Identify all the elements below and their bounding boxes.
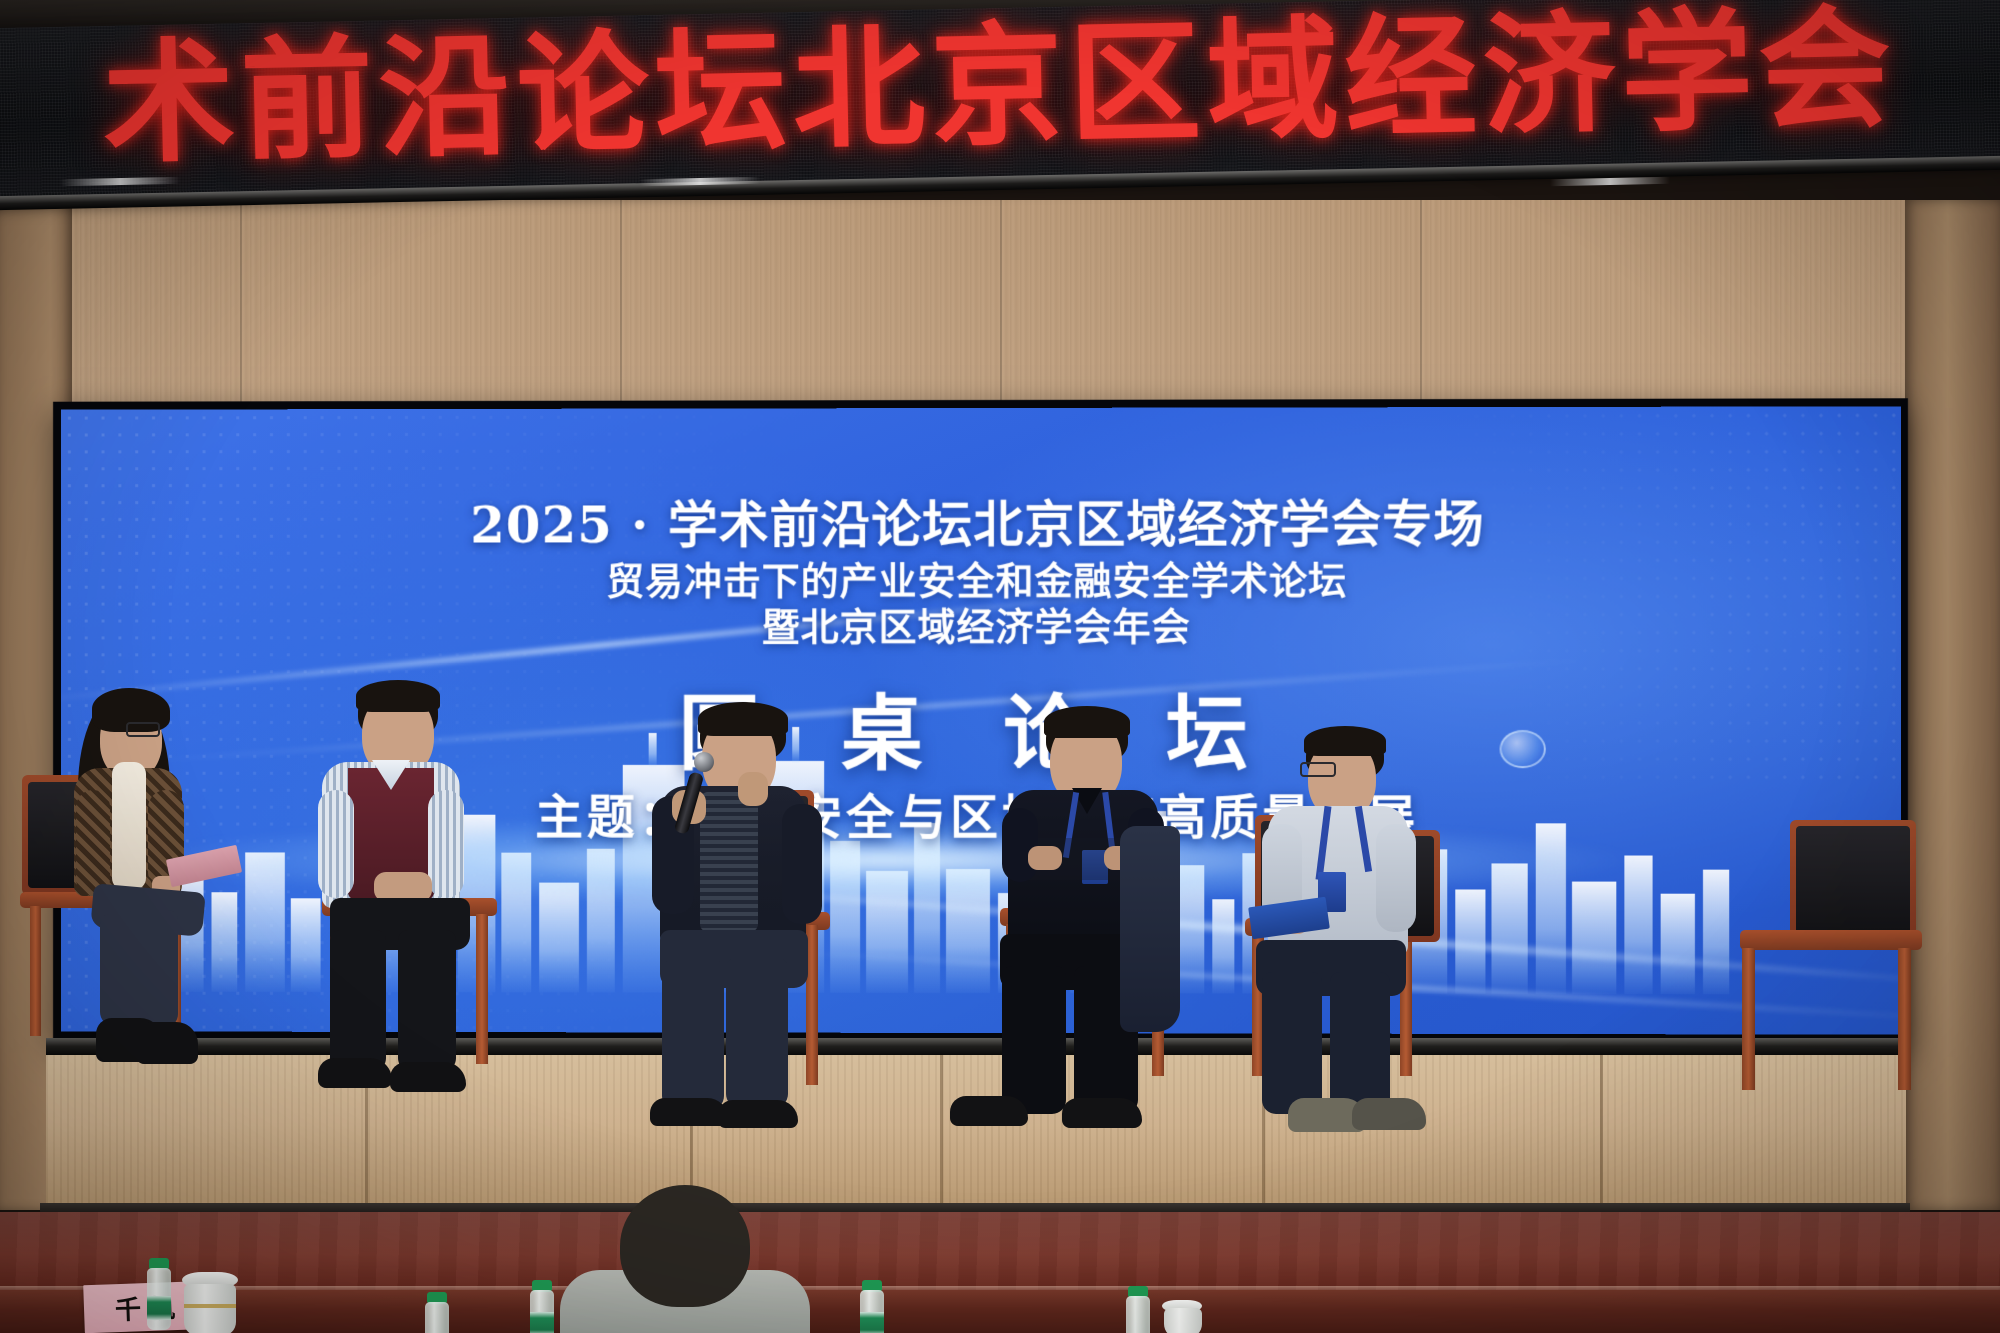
- chair-leg: [1898, 948, 1911, 1090]
- shin: [662, 960, 724, 1110]
- tea-cup: [184, 1284, 236, 1333]
- cabinet-seam: [940, 1055, 943, 1205]
- chair-leg: [476, 914, 488, 1064]
- shoe-2: [718, 1100, 798, 1128]
- water-bottle: [425, 1302, 449, 1333]
- bottle-label: [147, 1296, 171, 1320]
- conference-photo-scene: 术前沿论坛北京区域经济学会: [0, 0, 2000, 1333]
- teacup-gold-band: [184, 1304, 236, 1308]
- arm-left: [1002, 808, 1038, 882]
- hair-top: [698, 702, 788, 736]
- shoe-2: [1352, 1098, 1426, 1130]
- shoe-2: [1062, 1098, 1142, 1128]
- chair-leg: [1742, 948, 1755, 1090]
- microphone-head: [694, 752, 714, 772]
- tea-cup: [1164, 1308, 1202, 1333]
- arm-left: [76, 790, 110, 896]
- shoe: [650, 1098, 728, 1126]
- screen-subtitle-2: 暨北京区域经济学会年会: [61, 603, 1901, 650]
- shoe-2: [390, 1062, 466, 1092]
- shin: [1002, 966, 1066, 1114]
- foreground-table: [0, 1290, 2000, 1333]
- arm-right: [782, 804, 822, 924]
- chair-seat: [1740, 930, 1922, 950]
- bottle-label: [530, 1312, 554, 1333]
- hand-gesture: [738, 772, 768, 806]
- trim-glint: [1550, 177, 1670, 186]
- bottle-label: [860, 1312, 884, 1333]
- water-bottle: [1126, 1296, 1150, 1333]
- turtleneck: [112, 762, 146, 890]
- shin-2: [726, 958, 788, 1108]
- boot-2: [136, 1022, 198, 1064]
- screen-title: 2025 · 学术前沿论坛北京区域经济学会专场: [61, 495, 1901, 555]
- shoe: [318, 1058, 392, 1088]
- patterned-sweater: [700, 792, 758, 932]
- cabinet-top-trim: [46, 1038, 1906, 1056]
- screen-subtitle-1: 贸易冲击下的产业安全和金融安全学术论坛: [61, 557, 1901, 604]
- audience-member-head: [620, 1185, 750, 1307]
- hair-top: [1044, 706, 1130, 738]
- led-banner-text: 术前沿论坛北京区域经济学会: [0, 0, 2000, 183]
- cabinet-seam: [1600, 1055, 1603, 1205]
- shin-2: [398, 930, 456, 1072]
- arm-right: [1376, 824, 1416, 932]
- shin: [330, 930, 386, 1072]
- arm-left: [318, 790, 354, 898]
- glasses-icon: [1300, 762, 1336, 777]
- glasses-icon: [126, 722, 160, 737]
- hair-top: [1304, 726, 1386, 756]
- shin-2: [1330, 972, 1390, 1114]
- arm-right: [428, 790, 464, 898]
- hair-top: [356, 680, 440, 712]
- chair-leg: [30, 906, 41, 1036]
- shin: [1262, 972, 1322, 1114]
- wood-wall-right-pillar: [1905, 200, 2000, 1210]
- shin-2: [100, 914, 148, 1026]
- chair-cushion: [1796, 826, 1910, 942]
- draped-coat: [1120, 826, 1180, 1032]
- hand: [1028, 846, 1062, 870]
- shoe: [950, 1096, 1028, 1126]
